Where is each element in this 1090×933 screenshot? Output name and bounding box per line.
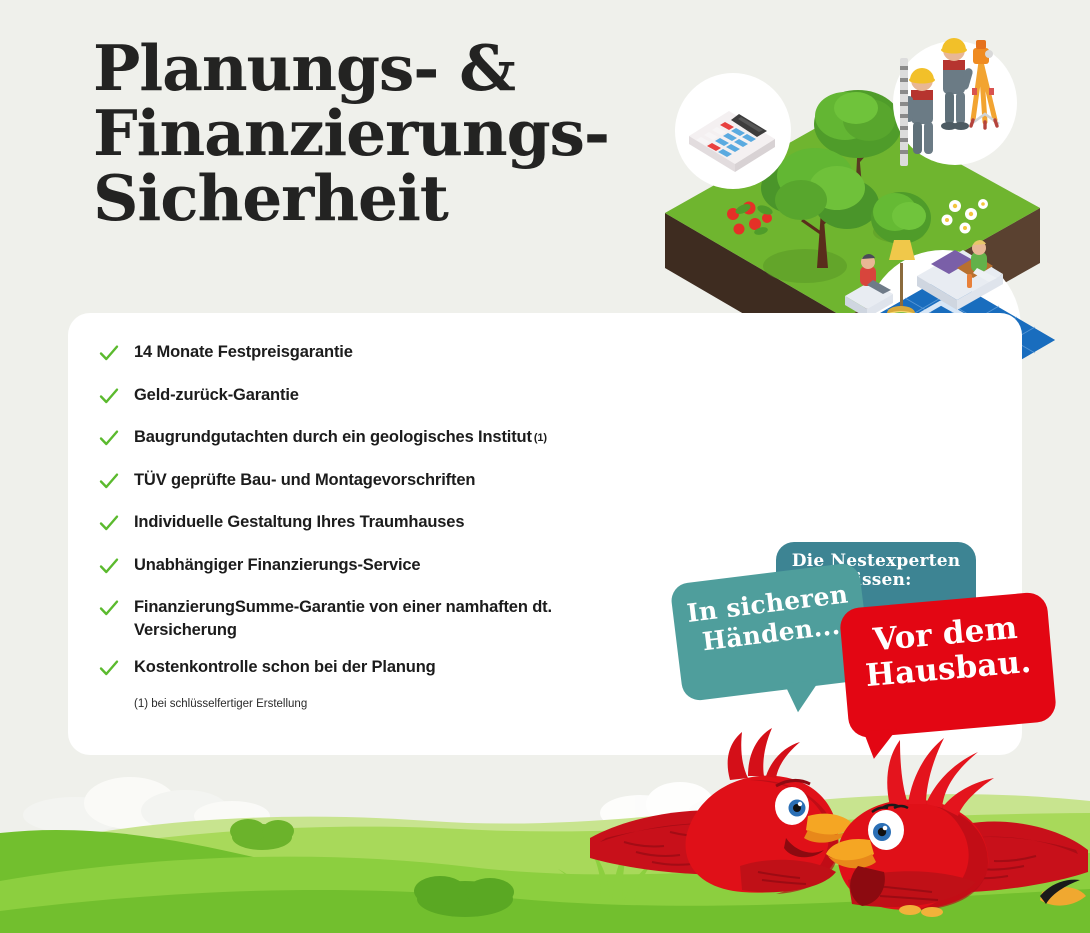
page-title: Planungs- & Finanzierungs- Sicherheit <box>93 36 673 232</box>
check-icon <box>98 340 134 364</box>
check-icon <box>98 425 134 449</box>
footnote: (1) bei schlüsselfertiger Erstellung <box>134 698 758 710</box>
list-item: Baugrundgutachten durch ein geologisches… <box>98 425 758 455</box>
check-icon <box>98 510 134 534</box>
list-item: Kostenkontrolle schon bei der Planung <box>98 655 758 685</box>
speech-bubble-right: Vor dem Hausbau. <box>839 591 1058 739</box>
list-item-label: FinanzierungSumme-Garantie von einer nam… <box>134 595 634 643</box>
list-item-label: Unabhängiger Finanzierungs-Service <box>134 553 422 577</box>
list-item-label: Geld-zurück-Garantie <box>134 383 301 407</box>
list-item: TÜV geprüfte Bau- und Montagevorschrifte… <box>98 468 758 498</box>
check-icon <box>98 383 134 407</box>
list-item: Individuelle Gestaltung Ihres Traumhause… <box>98 510 758 540</box>
bush-icon <box>230 819 294 850</box>
title-line-2: Finanzierungs- <box>93 101 673 166</box>
list-item-label: Individuelle Gestaltung Ihres Traumhause… <box>134 510 466 534</box>
red-bird-right <box>826 738 1088 917</box>
check-icon <box>98 595 134 619</box>
check-icon <box>98 553 134 577</box>
list-item: 14 Monate Festpreisgarantie <box>98 340 758 370</box>
list-item-label: 14 Monate Festpreisgarantie <box>134 340 355 364</box>
birds-illustration <box>590 720 1090 933</box>
leveling-rod-icon <box>900 58 908 166</box>
title-line-1: Planungs- & <box>93 36 673 101</box>
benefits-checklist: 14 Monate Festpreisgarantie Geld-zurück-… <box>98 340 758 710</box>
calculator-badge <box>675 73 791 189</box>
list-item-label: Kostenkontrolle schon bei der Planung <box>134 655 438 679</box>
bush-icon <box>871 192 931 244</box>
list-item-label: Baugrundgutachten durch ein geologisches… <box>134 425 547 449</box>
check-icon <box>98 468 134 492</box>
bubble-tail <box>784 679 823 713</box>
list-item: FinanzierungSumme-Garantie von einer nam… <box>98 595 758 643</box>
list-item: Geld-zurück-Garantie <box>98 383 758 413</box>
check-icon <box>98 655 134 679</box>
tree-shadow <box>763 249 847 283</box>
surveyor-badge <box>893 38 1017 166</box>
bush-icon <box>414 876 514 917</box>
red-bird-left <box>590 728 854 894</box>
infographic-root: Planungs- & Finanzierungs- Sicherheit <box>0 0 1090 933</box>
list-item: Unabhängiger Finanzierungs-Service <box>98 553 758 583</box>
title-line-3: Sicherheit <box>93 166 673 231</box>
list-item-label: TÜV geprüfte Bau- und Montagevorschrifte… <box>134 468 477 492</box>
